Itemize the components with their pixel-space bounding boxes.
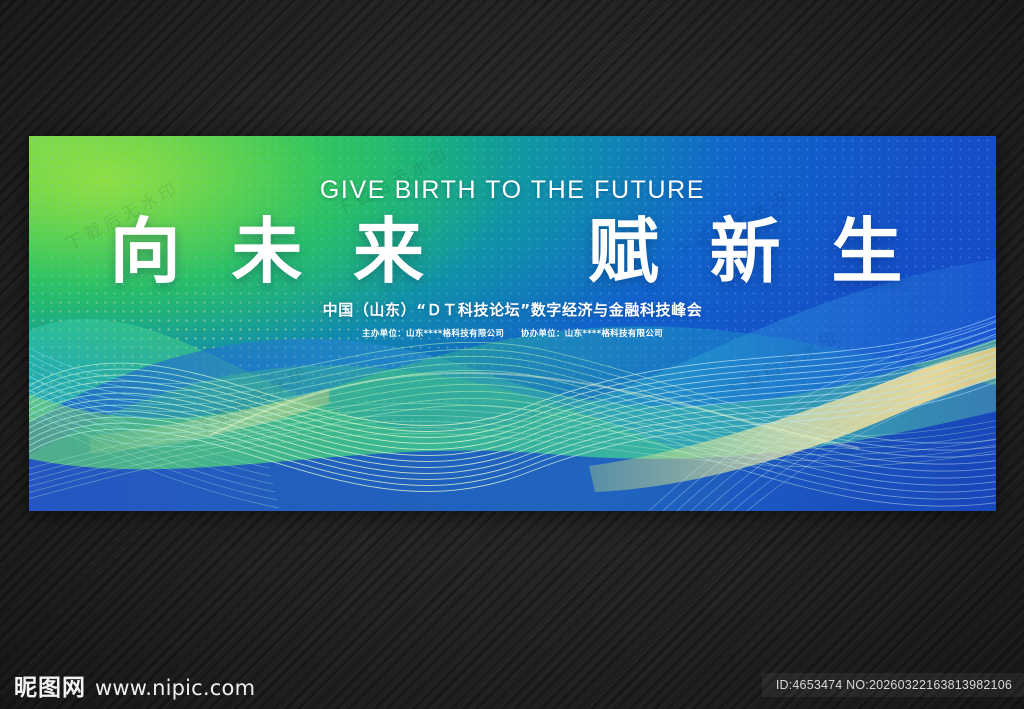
site-logo-cn: 昵图网 <box>14 668 86 702</box>
footer-bar: 昵图网 www.nipic.com ID:4653474 NO:20260322… <box>0 660 1024 709</box>
organizer-co: 协办单位：山东****格科技有限公司 <box>521 329 663 339</box>
banner-artboard: 下载后无水印 下载后无水印 下载后无水印 下载后无水印 下载后无水印 GIVE … <box>29 136 996 511</box>
site-logo-url: www.nipic.com <box>95 676 255 700</box>
image-id-tag: ID:4653474 NO:20260322163813982106 <box>762 673 1024 697</box>
banner-text-block: GIVE BIRTH TO THE FUTURE 向 未 来 赋 新 生 中国（… <box>29 176 996 339</box>
site-logo[interactable]: 昵图网 www.nipic.com <box>14 668 255 702</box>
english-tagline: GIVE BIRTH TO THE FUTURE <box>29 176 996 205</box>
event-subtitle: 中国（山东）“ＤＴ科技论坛”数字经济与金融科技峰会 <box>29 299 996 320</box>
organizer-main: 主办单位：山东****格科技有限公司 <box>362 329 504 339</box>
main-headline: 向 未 来 赋 新 生 <box>29 214 996 289</box>
organizer-line: 主办单位：山东****格科技有限公司 协办单位：山东****格科技有限公司 <box>29 327 996 339</box>
